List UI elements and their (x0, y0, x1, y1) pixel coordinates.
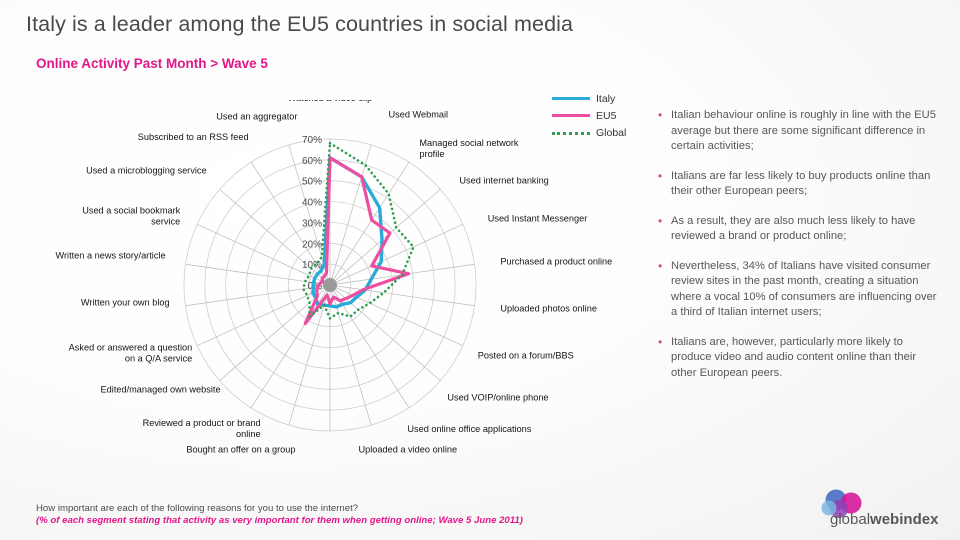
radar-category-label: Used online office applications (407, 424, 531, 434)
insights-list: •Italian behaviour online is roughly in … (658, 108, 944, 395)
axis-tick-label: 30% (302, 218, 322, 229)
footer-note: (% of each segment stating that activity… (36, 515, 523, 526)
radar-category-label: Posted on a forum/BBS (478, 351, 574, 361)
axis-tick-label: 50% (302, 177, 322, 188)
page-title: Italy is a leader among the EU5 countrie… (26, 12, 573, 37)
insight-text: Italians are, however, particularly more… (671, 335, 944, 382)
insight-text: As a result, they are also much less lik… (671, 214, 944, 245)
radar-category-label: Used a microblogging service (86, 166, 207, 176)
radar-category-label: Managed social networkprofile (419, 138, 518, 159)
radar-category-label: Uploaded a video online (359, 445, 458, 455)
logo-wordmark: globalwebindex (830, 511, 939, 528)
axis-tick-label: 70% (302, 135, 322, 146)
insight-bullet: •Italians are, however, particularly mor… (658, 335, 944, 382)
radar-category-label: Purchased a product online (500, 257, 612, 267)
bullet-dot-icon: • (658, 169, 671, 200)
radar-category-label: Watched a video clip (288, 100, 372, 103)
bullet-dot-icon: • (658, 214, 671, 245)
slide: Italy is a leader among the EU5 countrie… (0, 0, 960, 540)
radar-category-label: Used internet banking (459, 176, 548, 186)
radar-category-label: Used an aggregator (216, 111, 297, 121)
axis-tick-label: 60% (302, 156, 322, 167)
insight-bullet: •As a result, they are also much less li… (658, 214, 944, 245)
radar-chart-svg: 0%10%20%30%40%50%60%70%Watched a video c… (0, 100, 650, 460)
radar-category-label: Used VOIP/online phone (447, 392, 548, 402)
globalwebindex-logo: globalwebindex (812, 489, 948, 529)
logo-svg: globalwebindex (812, 489, 948, 529)
radar-category-label: Written a news story/article (55, 251, 165, 261)
radar-category-label: Written your own blog (81, 297, 170, 307)
axis-tick-label: 40% (302, 198, 322, 209)
radar-chart: 0%10%20%30%40%50%60%70%Watched a video c… (0, 100, 650, 460)
radar-hub (323, 278, 337, 292)
axis-tick-label: 20% (302, 239, 322, 250)
bullet-dot-icon: • (658, 335, 671, 382)
radar-category-label: Bought an offer on a group (186, 445, 295, 455)
radar-category-label: Reviewed a product or brandonline (143, 418, 261, 439)
insight-bullet: •Nevertheless, 34% of Italians have visi… (658, 259, 944, 321)
insight-text: Italian behaviour online is roughly in l… (671, 108, 944, 155)
radar-category-label: Asked or answered a questionon a Q/A ser… (69, 343, 193, 364)
radar-category-label: Used a social bookmarkservice (82, 205, 180, 226)
insight-bullet: •Italian behaviour online is roughly in … (658, 108, 944, 155)
radar-series-group (303, 143, 413, 323)
bullet-dot-icon: • (658, 108, 671, 155)
bullet-dot-icon: • (658, 259, 671, 321)
radar-category-label: Uploaded photos online (500, 303, 597, 313)
radar-category-label: Edited/managed own website (101, 384, 221, 394)
slide-subtitle: Online Activity Past Month > Wave 5 (36, 56, 268, 71)
footer: How important are each of the following … (36, 503, 523, 526)
footer-question: How important are each of the following … (36, 503, 523, 514)
insight-text: Nevertheless, 34% of Italians have visit… (671, 259, 944, 321)
radar-category-label: Used Instant Messenger (488, 213, 588, 223)
insight-bullet: •Italians are far less likely to buy pro… (658, 169, 944, 200)
radar-category-label: Used Webmail (389, 109, 449, 119)
insight-text: Italians are far less likely to buy prod… (671, 169, 944, 200)
radar-category-label: Subscribed to an RSS feed (138, 132, 249, 142)
